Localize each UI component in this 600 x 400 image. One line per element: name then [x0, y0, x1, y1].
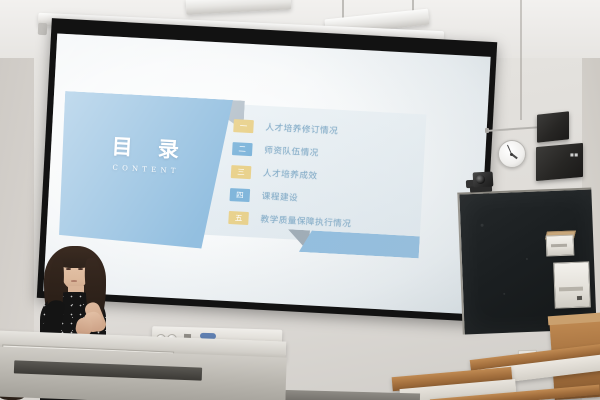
- toc-number-badge: 二: [232, 142, 253, 156]
- speaker-brand-label: ■■: [570, 152, 579, 157]
- classroom-photo: 目 录 CONTENT 一 人才培养修订情况 二 师资队伍情况 三 人才培养成效…: [0, 0, 600, 400]
- toc-number-badge: 四: [230, 188, 251, 202]
- toc-item-label: 教学质量保障执行情况: [260, 213, 351, 230]
- speaker-upper: [537, 111, 569, 142]
- toc-item-label: 课程建设: [261, 190, 298, 204]
- wall-clock: [498, 140, 526, 168]
- clock-center-pin: [510, 153, 513, 156]
- toc-item-label: 人才培养修订情况: [265, 121, 338, 137]
- roller-end-cap: [38, 23, 48, 35]
- presenter-eye-left: [66, 268, 71, 270]
- slide-content: 目 录 CONTENT 一 人才培养修订情况 二 师资队伍情况 三 人才培养成效…: [49, 39, 486, 310]
- toc-item-label: 师资队伍情况: [264, 144, 319, 159]
- ceiling-seam: [520, 0, 522, 120]
- slide-title-block: 目 录 CONTENT: [79, 134, 211, 177]
- toc-number-badge: 五: [228, 210, 249, 224]
- toc-number-badge: 三: [231, 165, 252, 179]
- wall-panel-indicator: [577, 296, 582, 300]
- slide-toc-list: 一 人才培养修订情况 二 师资队伍情况 三 人才培养成效 四 课程建设 五: [228, 114, 430, 239]
- presenter-eye-right: [78, 268, 83, 270]
- speaker-lower: [536, 143, 583, 181]
- wall-panel-slot: [559, 287, 583, 292]
- toc-number-badge: 一: [233, 119, 254, 133]
- toc-item-label: 人才培养成效: [263, 167, 318, 182]
- slide-layout: 目 录 CONTENT 一 人才培养修订情况 二 师资队伍情况 三 人才培养成效…: [52, 95, 427, 247]
- wall-box-detail: [551, 244, 567, 248]
- presenter-mouth: [71, 280, 77, 282]
- wall-control-panel-lower: [553, 261, 591, 308]
- light-suspension-rod: [342, 0, 344, 18]
